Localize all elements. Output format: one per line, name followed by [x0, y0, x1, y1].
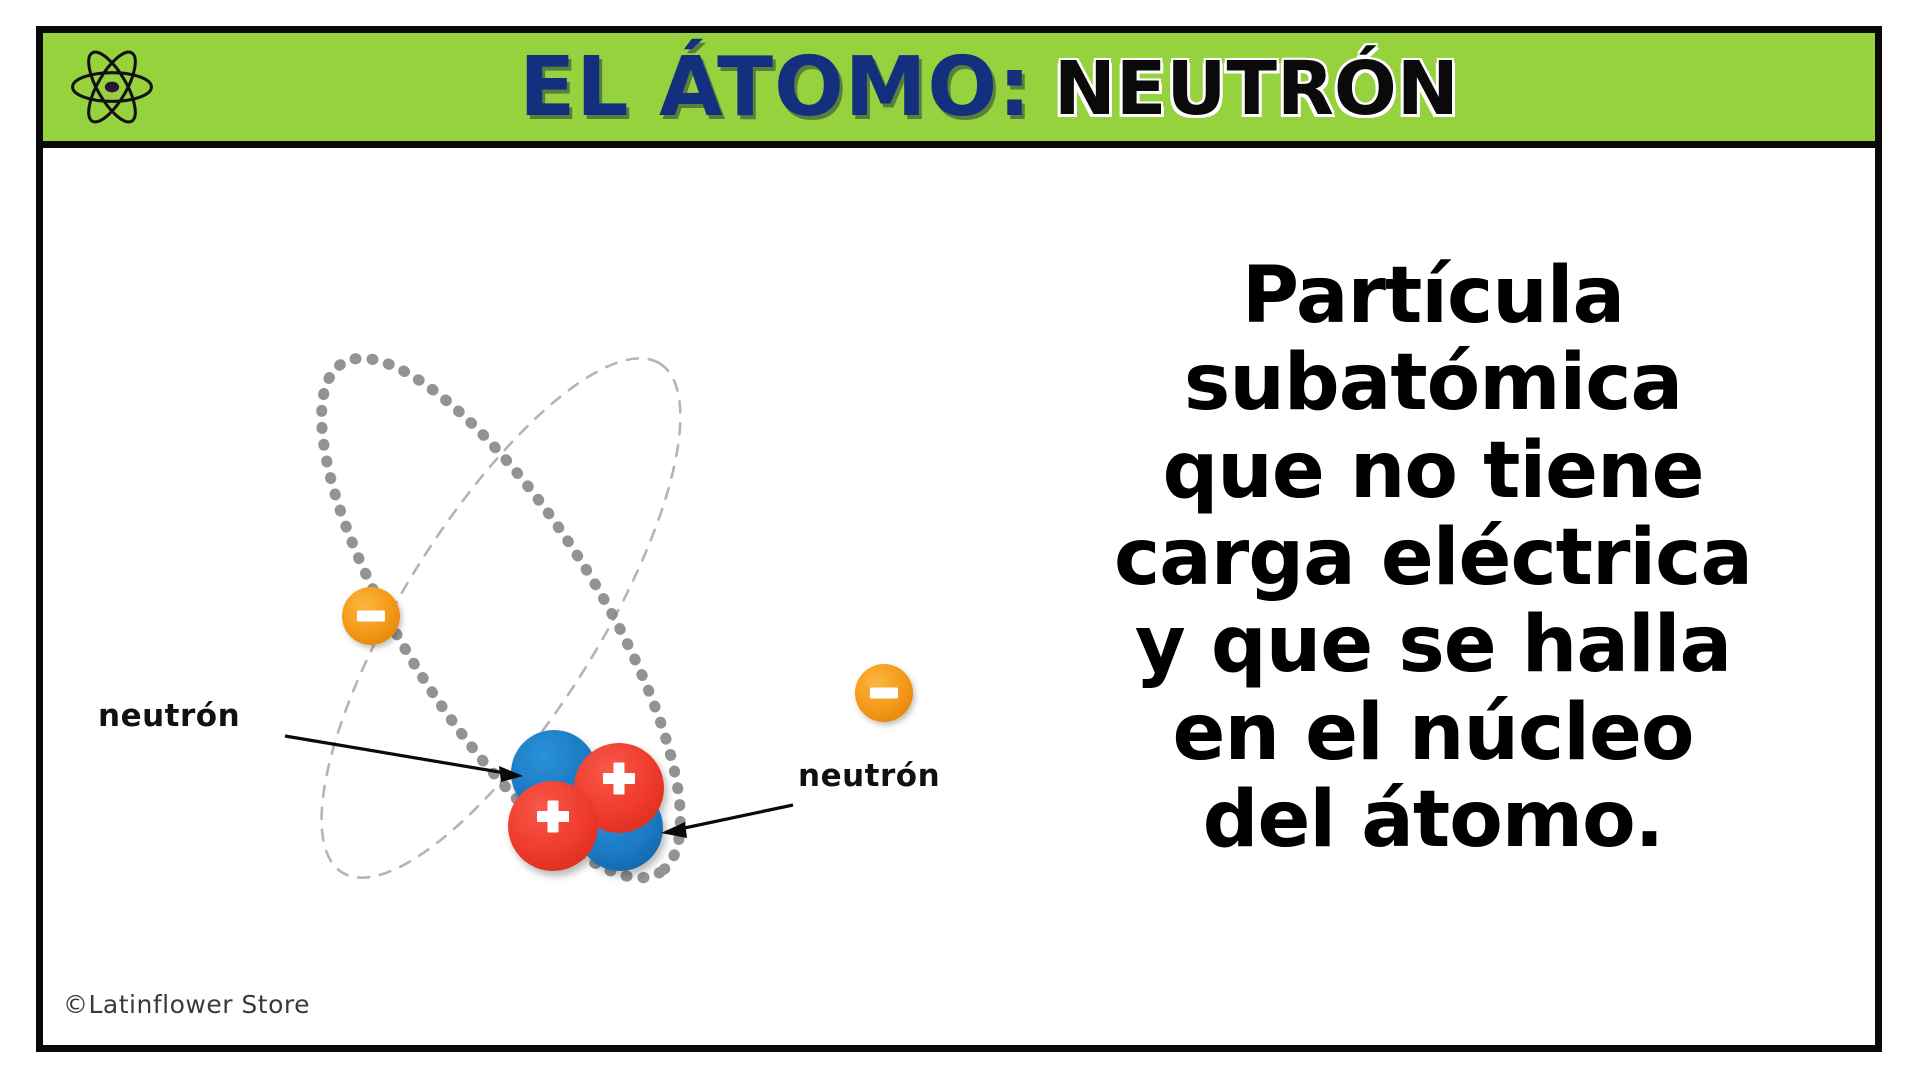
- atom-diagram-svg: [53, 188, 983, 948]
- definition-line-1: Partícula: [1003, 253, 1863, 340]
- nucleus-cluster: [508, 730, 664, 871]
- neutron-label-left: neutrón: [98, 698, 240, 734]
- poster-frame: EL ÁTOMO: NEUTRÓN: [36, 26, 1882, 1052]
- electron-minus-sign-1: [357, 611, 385, 622]
- poster-body: neutrón neutrón Partícula subatómica que…: [43, 148, 1875, 1045]
- definition-line-3: que no tiene: [1003, 428, 1863, 515]
- electron-particle-1: [342, 587, 400, 645]
- neutron-label-right: neutrón: [798, 758, 940, 794]
- header-banner: EL ÁTOMO: NEUTRÓN: [43, 33, 1875, 148]
- page-title-sub: NEUTRÓN: [1054, 54, 1459, 124]
- header-title-group: EL ÁTOMO: NEUTRÓN: [43, 33, 1875, 148]
- poster-root: EL ÁTOMO: NEUTRÓN: [0, 0, 1920, 1080]
- definition-text-block: Partícula subatómica que no tiene carga …: [1003, 253, 1863, 865]
- definition-line-7: del átomo.: [1003, 777, 1863, 864]
- electron-minus-sign-2: [870, 688, 898, 699]
- electron-particle-2: [855, 664, 913, 722]
- definition-line-6: en el núcleo: [1003, 690, 1863, 777]
- page-title-main: EL ÁTOMO:: [519, 49, 1032, 127]
- atom-diagram-panel: neutrón neutrón: [53, 188, 983, 948]
- footer-credit: ©Latinflower Store: [63, 990, 310, 1019]
- definition-line-5: y que se halla: [1003, 602, 1863, 689]
- definition-line-2: subatómica: [1003, 340, 1863, 427]
- definition-line-4: carga eléctrica: [1003, 515, 1863, 602]
